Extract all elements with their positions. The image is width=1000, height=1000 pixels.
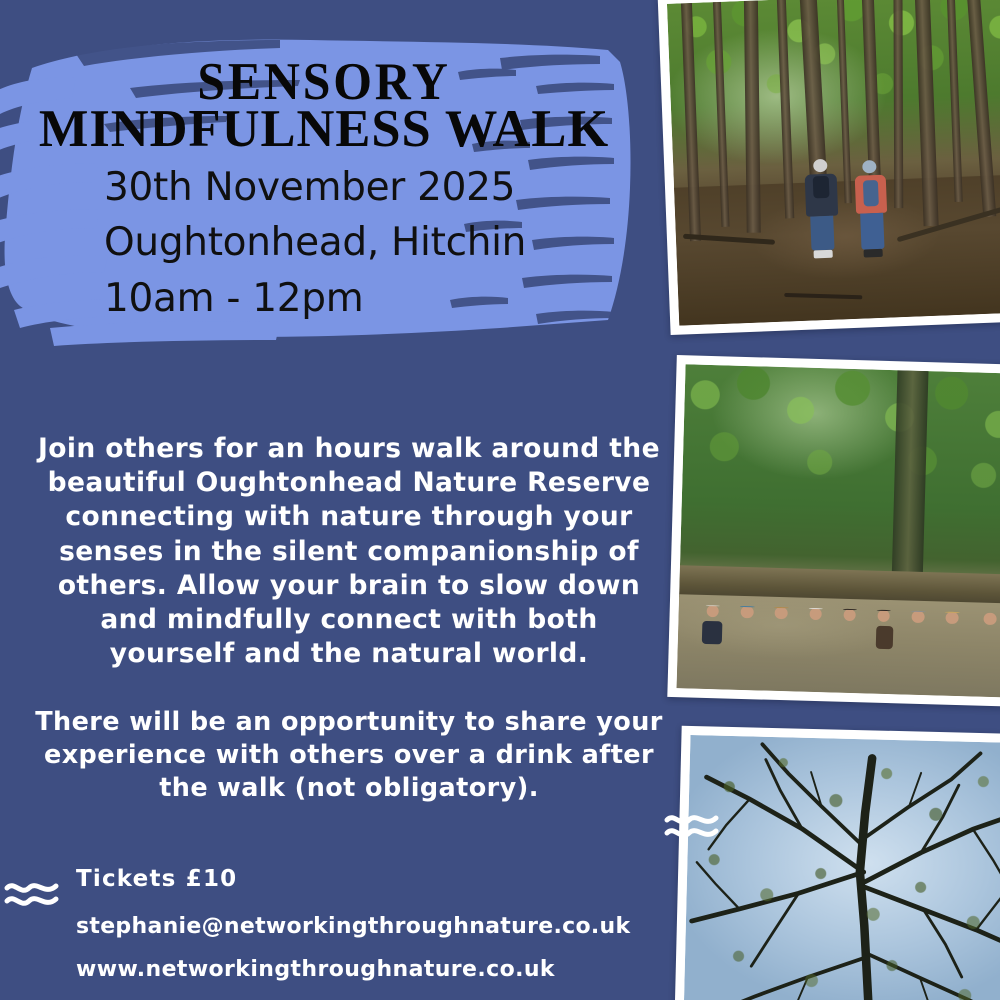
contact-website[interactable]: www.networkingthroughnature.co.uk — [76, 957, 630, 982]
photo2-group-of-walkers — [677, 364, 1000, 697]
wavy-lines-icon — [4, 876, 60, 910]
ticket-price: Tickets £10 — [76, 866, 630, 892]
description-paragraph-2: There will be an opportunity to share yo… — [34, 706, 664, 805]
photo1-walker-left — [804, 159, 840, 259]
event-details: 30th November 2025 Oughtonhead, Hitchin … — [104, 160, 526, 326]
photo-woodland-path — [658, 0, 1000, 335]
headline-line-2: MINDFULNESS WALK — [3, 105, 645, 154]
photo1-walker-right — [854, 160, 890, 258]
poster-canvas: SENSORY MINDFULNESS WALK 30th November 2… — [0, 0, 1000, 1000]
description-paragraph-1: Join others for an hours walk around the… — [34, 432, 664, 671]
contact-footer: Tickets £10 stephanie@networkingthroughn… — [76, 866, 630, 982]
event-time: 10am - 12pm — [104, 271, 526, 326]
contact-email[interactable]: stephanie@networkingthroughnature.co.uk — [76, 914, 630, 939]
photo3-leaf-clusters — [684, 735, 1000, 1000]
photo2-backpack — [876, 626, 894, 649]
photo-tree-canopy-sky — [674, 726, 1000, 1000]
photo-group-on-log — [667, 355, 1000, 707]
poster-headline: SENSORY MINDFULNESS WALK — [0, 58, 648, 155]
photo2-backpack — [702, 621, 723, 644]
event-date: 30th November 2025 — [104, 160, 526, 215]
event-location: Oughtonhead, Hitchin — [104, 215, 526, 270]
